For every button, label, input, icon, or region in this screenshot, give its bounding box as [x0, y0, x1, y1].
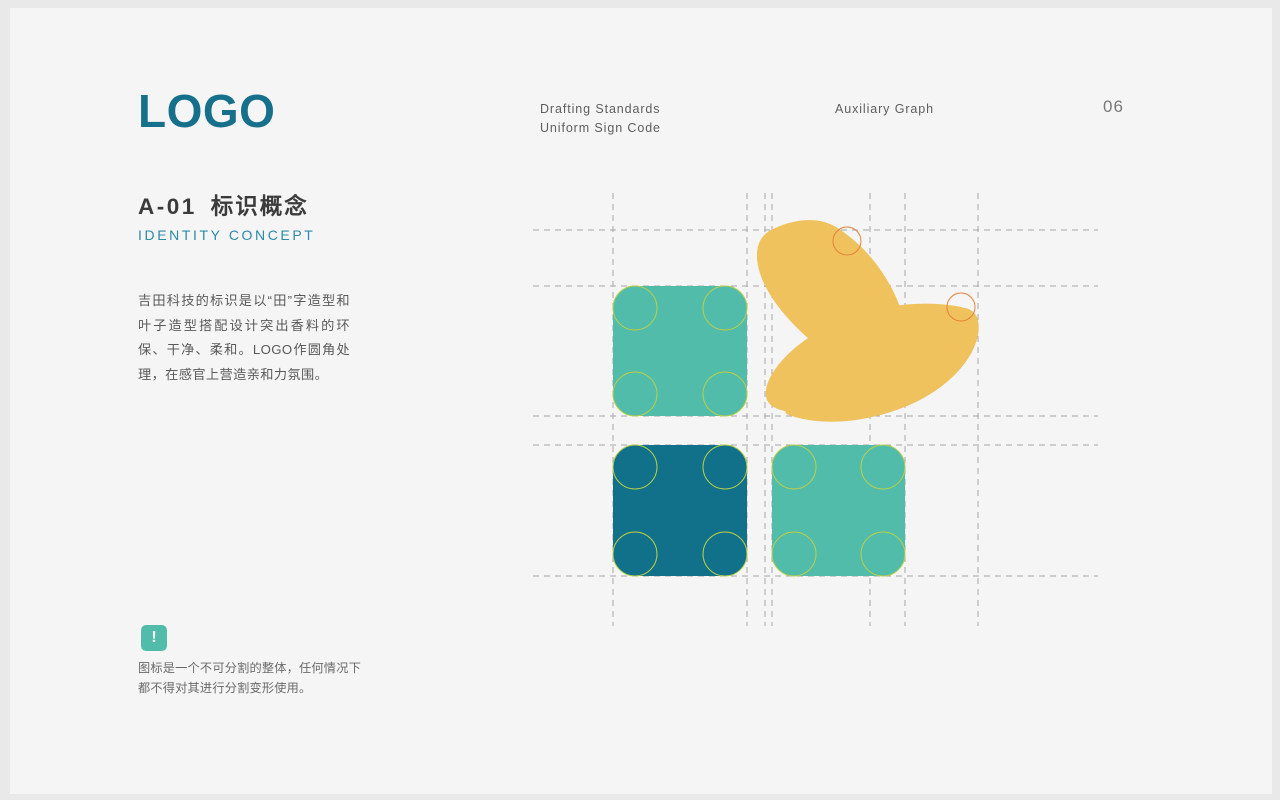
square-bottom-right [772, 445, 905, 576]
header-standards-line1: Drafting Standards [540, 100, 661, 119]
square-top-left [613, 286, 747, 416]
header-standards: Drafting Standards Uniform Sign Code [540, 100, 661, 138]
header-standards-line2: Uniform Sign Code [540, 119, 661, 138]
section-body-text: 吉田科技的标识是以“田”字造型和叶子造型搭配设计突出香料的环保、干净、柔和。LO… [138, 289, 350, 387]
section-title-zh: 标识概念 [211, 194, 309, 219]
brand-guideline-page: LOGO Drafting Standards Uniform Sign Cod… [10, 8, 1272, 794]
section-title: A-01标识概念 [138, 189, 309, 221]
logo-leaves [753, 208, 981, 432]
section-code: A-01 [138, 194, 197, 219]
square-bottom-left [613, 445, 747, 576]
page-number: 06 [1103, 97, 1124, 117]
exclamation-icon: ! [141, 625, 167, 651]
header-auxiliary-graph: Auxiliary Graph [835, 100, 934, 119]
logo-wordmark: LOGO [138, 88, 275, 134]
note-text: 图标是一个不可分割的整体，任何情况下都不得对其进行分割变形使用。 [138, 658, 362, 698]
section-subtitle: IDENTITY CONCEPT [138, 227, 315, 243]
logo-construction-artboard [510, 178, 1130, 648]
